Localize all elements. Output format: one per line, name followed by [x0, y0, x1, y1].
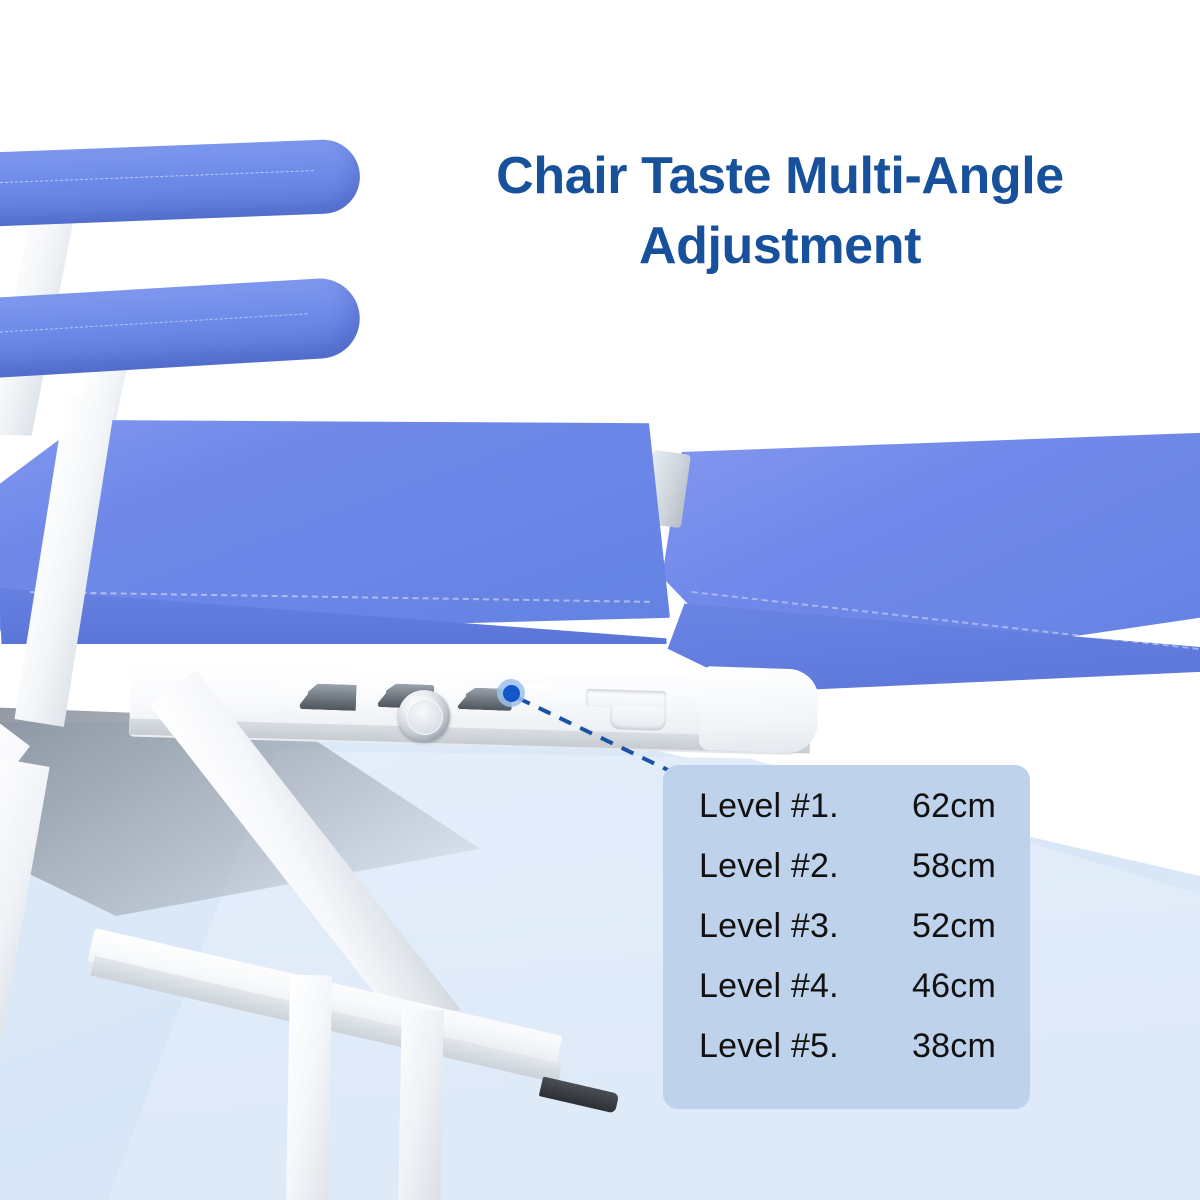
page-title: Chair Taste Multi-Angle Adjustment: [400, 142, 1160, 281]
armrest-upper-seam: [0, 170, 314, 185]
table-row: Level #3. 52cm: [663, 907, 1030, 967]
level-label: Level #3.: [699, 907, 839, 946]
product-marketing-image: Chair Taste Multi-Angle Adjustment: [0, 0, 1200, 1200]
level-height: 38cm: [912, 1027, 996, 1066]
level-height: 52cm: [912, 907, 996, 946]
title-line-1: Chair Taste Multi-Angle: [496, 147, 1064, 205]
level-label: Level #5.: [699, 1027, 839, 1066]
table-row: Level #5. 38cm: [663, 1027, 1030, 1087]
table-row: Level #2. 58cm: [663, 847, 1030, 907]
level-height: 58cm: [912, 847, 996, 886]
level-height: 46cm: [912, 967, 996, 1006]
frame-leg-vertical-2: [398, 1010, 443, 1200]
armrest-lower-seam: [0, 313, 308, 335]
table-row: Level #1. 62cm: [663, 787, 1030, 847]
title-line-2: Adjustment: [400, 212, 1160, 282]
level-label: Level #2.: [699, 847, 839, 886]
level-rows: Level #1. 62cm Level #2. 58cm Level #3. …: [663, 787, 1030, 1087]
frame-leg-vertical-1: [286, 975, 332, 1200]
callout-marker-dot[interactable]: [503, 685, 520, 702]
bracket-slot-lower: [610, 705, 667, 731]
level-label: Level #4.: [699, 967, 839, 1006]
level-label: Level #1.: [699, 787, 839, 826]
level-height-panel: Level #1. 62cm Level #2. 58cm Level #3. …: [663, 765, 1030, 1109]
level-height: 62cm: [912, 787, 996, 826]
adjustment-rail-end-cap: [699, 666, 820, 754]
table-row: Level #4. 46cm: [663, 967, 1030, 1027]
armrest-upper: [0, 138, 361, 227]
